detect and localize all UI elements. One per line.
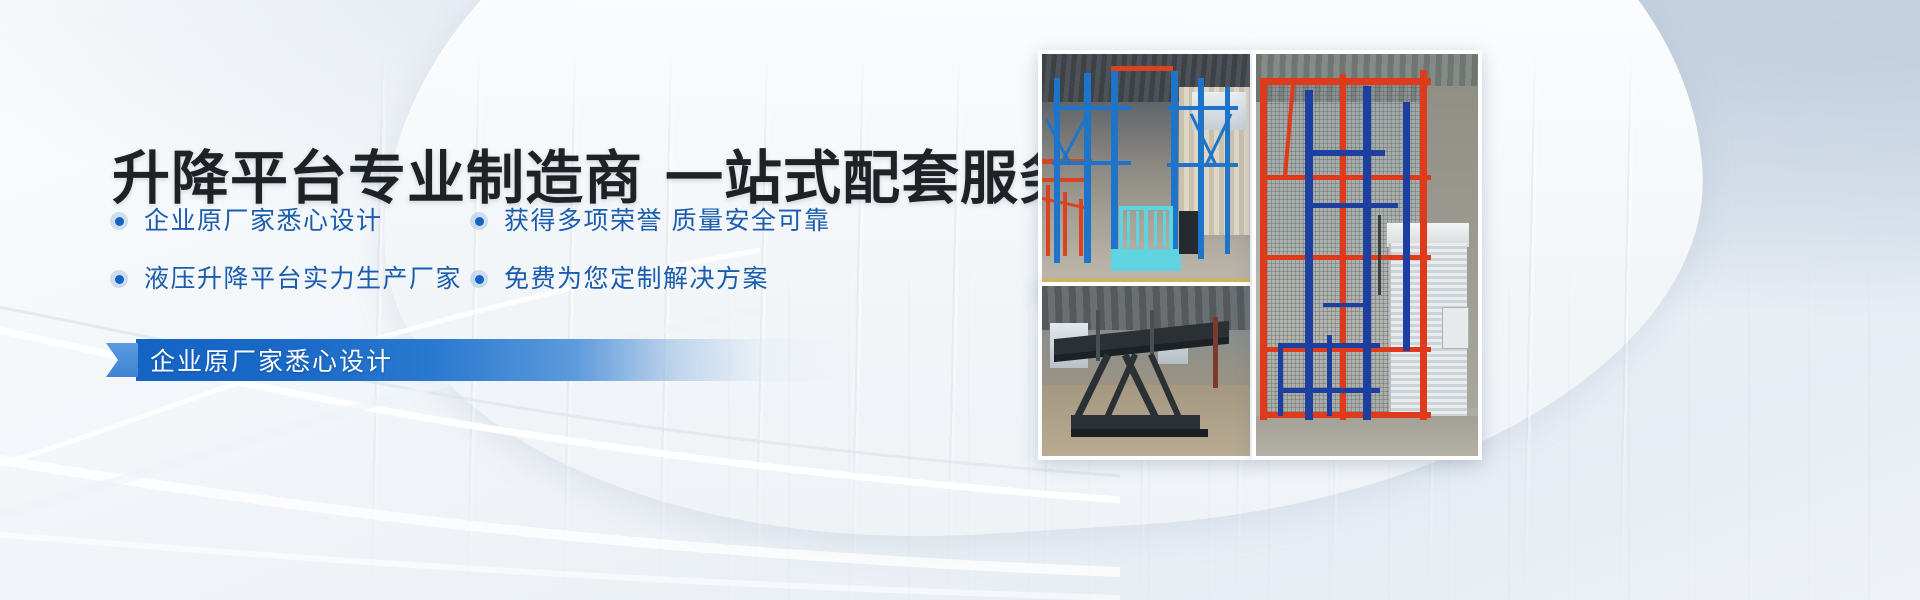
bullet-dot-icon	[470, 270, 488, 288]
feature-label: 获得多项荣誉 质量安全可靠	[504, 206, 830, 236]
feature-label: 液压升降平台实力生产厂家	[144, 264, 462, 294]
ribbon-arrow-icon	[106, 343, 138, 377]
list-item: 企业原厂家悉心设计	[110, 206, 470, 236]
list-item: 液压升降平台实力生产厂家	[110, 264, 470, 294]
feature-label: 免费为您定制解决方案	[504, 264, 769, 294]
headline-part-1: 升降平台专业制造商	[112, 146, 643, 211]
feature-label: 企业原厂家悉心设计	[144, 206, 383, 236]
bullet-dot-icon	[470, 212, 488, 230]
scissor-lift-photo	[1038, 282, 1254, 460]
feature-row: 液压升降平台实力生产厂家 免费为您定制解决方案	[110, 264, 990, 294]
cage-guide-rail-photo	[1252, 50, 1482, 460]
ribbon-label: 企业原厂家悉心设计	[150, 339, 393, 381]
bullet-dot-icon	[110, 270, 128, 288]
promotional-banner: 升降平台专业制造商一站式配套服务 企业原厂家悉心设计 获得多项荣誉 质量安全可靠…	[0, 0, 1920, 600]
feature-list: 企业原厂家悉心设计 获得多项荣誉 质量安全可靠 液压升降平台实力生产厂家 免费为…	[110, 206, 990, 322]
mezzanine-lift-photo	[1038, 50, 1254, 296]
list-item: 获得多项荣誉 质量安全可靠	[470, 206, 940, 236]
list-item: 免费为您定制解决方案	[470, 264, 940, 294]
feature-row: 企业原厂家悉心设计 获得多项荣誉 质量安全可靠	[110, 206, 990, 236]
bullet-dot-icon	[110, 212, 128, 230]
headline-part-2: 一站式配套服务	[665, 146, 1078, 211]
banner-text-content: 升降平台专业制造商一站式配套服务 企业原厂家悉心设计 获得多项荣誉 质量安全可靠…	[0, 0, 1030, 600]
highlight-ribbon: 企业原厂家悉心设计	[106, 339, 846, 381]
product-photo-collage	[1030, 0, 1920, 600]
page-title: 升降平台专业制造商一站式配套服务	[112, 146, 1078, 213]
